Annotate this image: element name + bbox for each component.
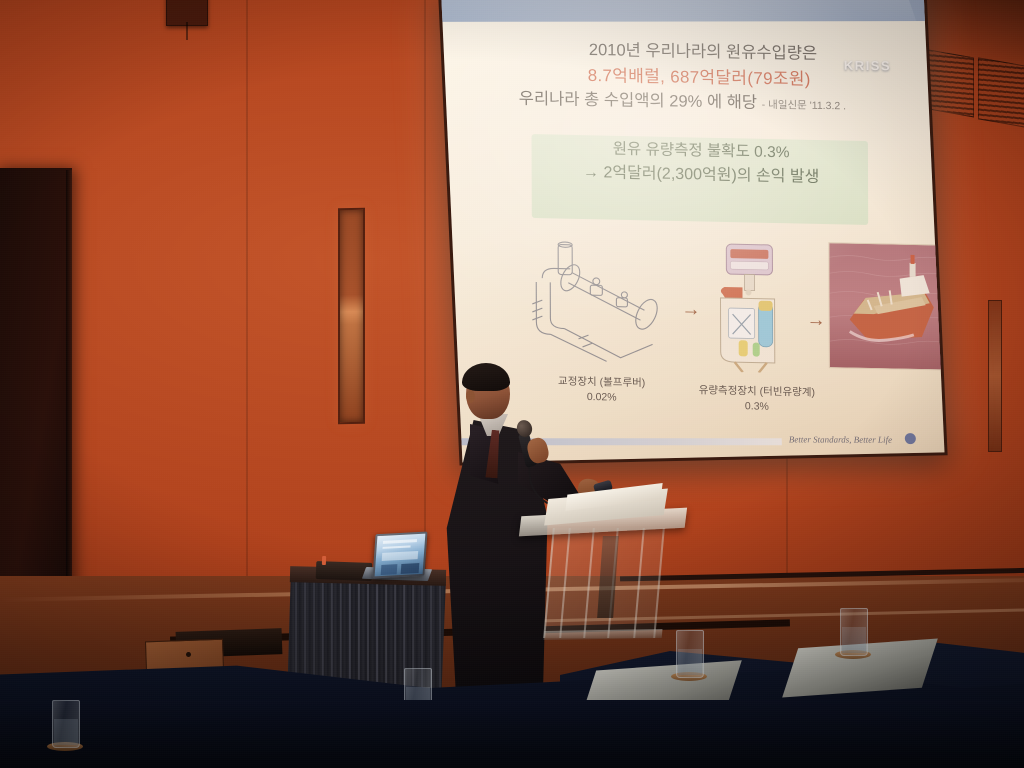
water-glass	[840, 608, 868, 656]
diagram-caption-2: 유량측정장치 (터빈유량계) 0.3%	[667, 383, 847, 416]
slide-heading-line-3-text: 우리나라 총 수입액의 29% 에 해당	[519, 90, 757, 112]
flow-arrow-icon: →	[681, 299, 700, 321]
slide-diagram-row: → →	[476, 233, 927, 422]
diagram-caption-1: 교정장치 (볼프루버) 0.02%	[517, 374, 687, 407]
turbine-flowmeter-diagram-icon	[708, 242, 795, 374]
oil-tanker-photo	[828, 242, 944, 370]
av-equipment-led-icon	[322, 556, 326, 565]
laptop[interactable]	[372, 532, 427, 579]
ball-prover-diagram-icon	[524, 238, 675, 371]
recessed-light-strip-icon	[988, 300, 1002, 452]
wall-seam	[246, 0, 248, 640]
foreground-table-front	[0, 700, 1024, 768]
recessed-light-strip-icon	[338, 208, 365, 425]
tanker-illustration-icon	[829, 243, 944, 369]
slide-banner	[441, 0, 944, 22]
slide-footer-logo-icon	[905, 433, 916, 444]
water-glass	[676, 630, 704, 678]
flow-arrow-icon: →	[807, 310, 826, 332]
slide-source-note: - 내일신문 '11.3.2 .	[762, 99, 846, 112]
diagram-caption-2-value: 0.3%	[667, 397, 847, 415]
projected-slide: 기준서 KRISS 2010년 우리나라의 원유수입량은 8.7억배럴, 687…	[441, 0, 944, 462]
presentation-photo-scene: 기준서 KRISS 2010년 우리나라의 원유수입량은 8.7억배럴, 687…	[0, 0, 1024, 768]
slide-heading: 2010년 우리나라의 원유수입량은 8.7억배럴, 687억달러(79조원) …	[485, 36, 896, 118]
laptop-screen	[375, 534, 426, 577]
projection-screen: 기준서 KRISS 2010년 우리나라의 원유수입량은 8.7억배럴, 687…	[438, 0, 948, 466]
wall-plaque-stem	[186, 22, 188, 40]
slide-highlight-text: 원유 유량측정 불확도 0.3% → 2억달러(2,300억원)의 손익 발생	[533, 136, 870, 192]
speaker-ear	[466, 390, 475, 403]
floor-equipment-knob-icon	[186, 652, 191, 657]
slide-footer-tagline: Better Standards, Better Life	[788, 434, 891, 444]
water-glass	[52, 700, 80, 748]
diagram-caption-1-value: 0.02%	[517, 388, 687, 406]
ceiling-vent-icon	[978, 57, 1024, 129]
